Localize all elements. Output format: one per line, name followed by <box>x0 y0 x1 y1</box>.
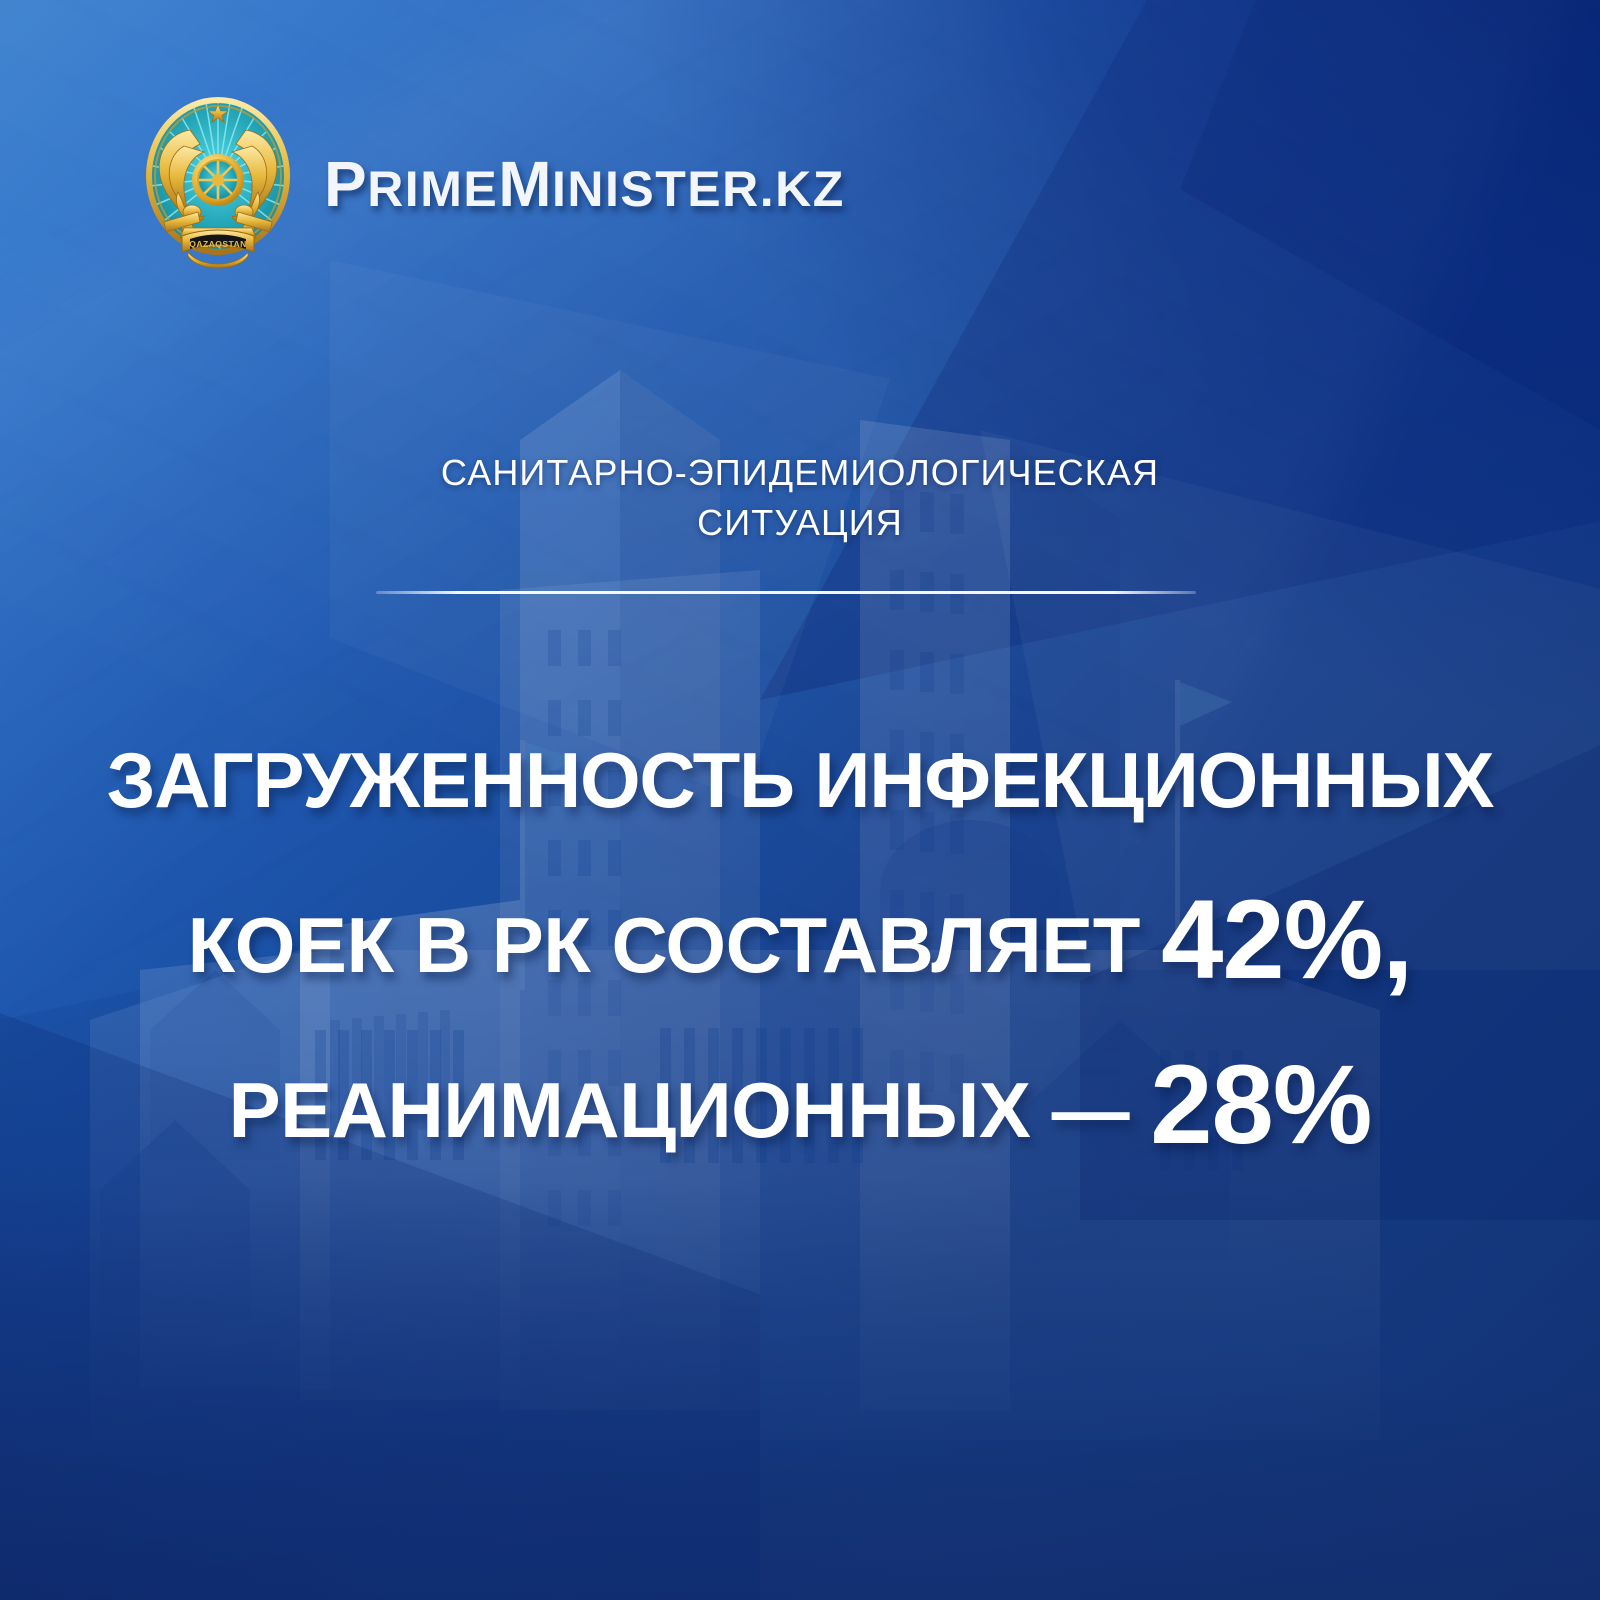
headline-line-1: ЗАГРУЖЕННОСТЬ ИНФЕКЦИОННЫХ <box>80 700 1520 860</box>
stat-infectious-beds-value: 42%, <box>1161 877 1412 1002</box>
wordmark-m: M <box>498 152 552 216</box>
wordmark-rime: RIME <box>367 164 498 214</box>
subtitle-block: САНИТАРНО-ЭПИДЕМИОЛОГИЧЕСКАЯ СИТУАЦИЯ <box>300 448 1300 547</box>
subtitle-line-2: СИТУАЦИЯ <box>300 498 1300 548</box>
headline-line-2-text: КОЕК В РК СОСТАВЛЯЕТ <box>188 901 1140 989</box>
headline-line-2: КОЕК В РК СОСТАВЛЯЕТ 42%, <box>80 860 1520 1025</box>
wordmark-inister-kz: INISTER.KZ <box>552 164 845 214</box>
subtitle-line-1: САНИТАРНО-ЭПИДЕМИОЛОГИЧЕСКАЯ <box>300 448 1300 498</box>
headline-line-3: РЕАНИМАЦИОННЫХ — 28% <box>80 1025 1520 1190</box>
site-header: QAZAQSTAN P RIME M INISTER.KZ <box>138 96 845 272</box>
subtitle-divider <box>376 591 1196 594</box>
headline-block: ЗАГРУЖЕННОСТЬ ИНФЕКЦИОННЫХ КОЕК В РК СОС… <box>80 700 1520 1190</box>
emblem-inscription: QAZAQSTAN <box>189 239 246 249</box>
infographic-canvas: QAZAQSTAN P RIME M INISTER.KZ САНИТАРНО-… <box>0 0 1600 1600</box>
site-wordmark: P RIME M INISTER.KZ <box>324 152 845 216</box>
wordmark-p: P <box>324 152 367 216</box>
headline-line-3-text: РЕАНИМАЦИОННЫХ — <box>229 1066 1130 1154</box>
kazakhstan-coat-of-arms-icon: QAZAQSTAN <box>138 96 298 272</box>
stat-icu-beds-value: 28% <box>1150 1042 1371 1167</box>
